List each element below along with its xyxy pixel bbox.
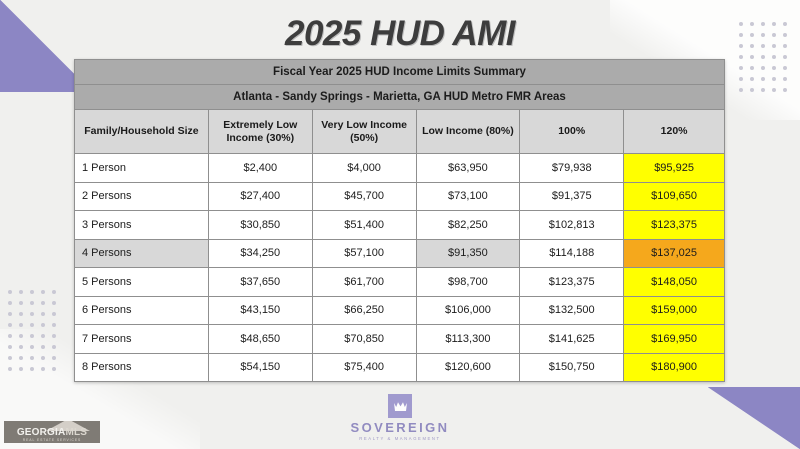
cell-household-size: 3 Persons <box>75 211 209 240</box>
decor-dot <box>783 55 787 59</box>
cell-extremely-low-income: $2,400 <box>208 154 312 183</box>
decor-dot <box>30 334 34 338</box>
cell-extremely-low-income: $48,650 <box>208 325 312 354</box>
table-row: 6 Persons $43,150 $66,250 $106,000 $132,… <box>75 296 725 325</box>
column-header-very-low-income: Very Low Income (50%) <box>312 110 416 154</box>
cell-very-low-income: $51,400 <box>312 211 416 240</box>
cell-extremely-low-income: $54,150 <box>208 353 312 382</box>
decor-dot <box>52 301 56 305</box>
cell-very-low-income: $57,100 <box>312 239 416 268</box>
decor-dot <box>750 88 754 92</box>
decor-dot <box>30 323 34 327</box>
decor-dot <box>761 88 765 92</box>
decor-dot <box>52 345 56 349</box>
watermark-name-a: GEORGIA <box>17 427 66 438</box>
cell-low-income: $106,000 <box>416 296 520 325</box>
decor-dot <box>783 66 787 70</box>
table-row: 4 Persons $34,250 $57,100 $91,350 $114,1… <box>75 239 725 268</box>
decor-dot <box>783 88 787 92</box>
band-fiscal-year-label: Fiscal Year 2025 HUD Income Limits Summa… <box>75 60 725 85</box>
decor-dot <box>52 356 56 360</box>
table-row: 1 Person $2,400 $4,000 $63,950 $79,938 $… <box>75 154 725 183</box>
decor-dot <box>41 356 45 360</box>
cell-low-income: $82,250 <box>416 211 520 240</box>
cell-ami-120: $180,900 <box>624 353 725 382</box>
decor-dot <box>19 345 23 349</box>
cell-very-low-income: $70,850 <box>312 325 416 354</box>
cell-ami-120: $95,925 <box>624 154 725 183</box>
decor-dot <box>750 66 754 70</box>
cell-ami-120: $159,000 <box>624 296 725 325</box>
cell-household-size: 8 Persons <box>75 353 209 382</box>
table-row: 3 Persons $30,850 $51,400 $82,250 $102,8… <box>75 211 725 240</box>
table-band-metro-area: Atlanta - Sandy Springs - Marietta, GA H… <box>75 85 725 110</box>
decor-dot <box>761 77 765 81</box>
crown-icon <box>388 394 412 418</box>
decor-dot <box>8 323 12 327</box>
decor-dot <box>8 334 12 338</box>
cell-low-income: $120,600 <box>416 353 520 382</box>
decor-dot <box>41 301 45 305</box>
decor-dot <box>19 334 23 338</box>
cell-ami-100: $123,375 <box>520 268 624 297</box>
page-title: 2025 HUD AMI <box>0 14 800 54</box>
cell-ami-100: $132,500 <box>520 296 624 325</box>
decor-dot <box>52 312 56 316</box>
decor-dot <box>750 77 754 81</box>
cell-ami-120: $137,025 <box>624 239 725 268</box>
decor-dot <box>739 88 743 92</box>
decor-dot <box>52 367 56 371</box>
cell-household-size: 5 Persons <box>75 268 209 297</box>
cell-household-size: 2 Persons <box>75 182 209 211</box>
decor-dot <box>783 77 787 81</box>
decor-dot <box>30 312 34 316</box>
cell-ami-120: $109,650 <box>624 182 725 211</box>
cell-ami-120: $148,050 <box>624 268 725 297</box>
cell-household-size: 1 Person <box>75 154 209 183</box>
decor-dot <box>19 367 23 371</box>
cell-low-income: $113,300 <box>416 325 520 354</box>
decor-dot-grid-bottom-left <box>8 290 56 371</box>
decor-dot <box>8 290 12 294</box>
cell-very-low-income: $61,700 <box>312 268 416 297</box>
cell-household-size: 7 Persons <box>75 325 209 354</box>
decor-dot <box>772 77 776 81</box>
cell-low-income: $63,950 <box>416 154 520 183</box>
cell-low-income: $73,100 <box>416 182 520 211</box>
column-header-ami-120: 120% <box>624 110 725 154</box>
decor-dot <box>8 345 12 349</box>
decor-dot <box>30 345 34 349</box>
cell-very-low-income: $4,000 <box>312 154 416 183</box>
georgia-mls-watermark: GEORGIAMLS REAL ESTATE SERVICES <box>4 421 100 443</box>
table-body: 1 Person $2,400 $4,000 $63,950 $79,938 $… <box>75 154 725 382</box>
cell-household-size: 4 Persons <box>75 239 209 268</box>
cell-low-income: $98,700 <box>416 268 520 297</box>
cell-extremely-low-income: $43,150 <box>208 296 312 325</box>
sovereign-logo: SOVEREIGN REALTY & MANAGEMENT <box>0 394 800 441</box>
column-header-ami-100: 100% <box>520 110 624 154</box>
cell-ami-100: $102,813 <box>520 211 624 240</box>
decor-dot <box>750 55 754 59</box>
decor-dot <box>19 290 23 294</box>
table-band-fiscal-year: Fiscal Year 2025 HUD Income Limits Summa… <box>75 60 725 85</box>
decor-dot <box>52 290 56 294</box>
watermark-tagline: REAL ESTATE SERVICES <box>4 438 100 442</box>
cell-extremely-low-income: $37,650 <box>208 268 312 297</box>
decor-dot <box>761 55 765 59</box>
cell-very-low-income: $45,700 <box>312 182 416 211</box>
decor-dot <box>772 88 776 92</box>
cell-very-low-income: $75,400 <box>312 353 416 382</box>
decor-dot <box>41 312 45 316</box>
cell-ami-120: $123,375 <box>624 211 725 240</box>
decor-dot <box>8 312 12 316</box>
decor-dot <box>739 77 743 81</box>
decor-dot <box>761 66 765 70</box>
decor-dot <box>30 356 34 360</box>
cell-extremely-low-income: $30,850 <box>208 211 312 240</box>
cell-extremely-low-income: $27,400 <box>208 182 312 211</box>
income-limits-table: Fiscal Year 2025 HUD Income Limits Summa… <box>74 59 725 382</box>
cell-ami-100: $141,625 <box>520 325 624 354</box>
column-header-extremely-low-income: Extremely Low Income (30%) <box>208 110 312 154</box>
cell-ami-100: $91,375 <box>520 182 624 211</box>
logo-name: SOVEREIGN <box>351 420 450 435</box>
cell-ami-100: $79,938 <box>520 154 624 183</box>
decor-dot <box>30 301 34 305</box>
decor-dot <box>772 55 776 59</box>
decor-dot <box>8 356 12 360</box>
decor-dot <box>41 290 45 294</box>
decor-dot <box>52 323 56 327</box>
decor-dot <box>739 55 743 59</box>
decor-dot <box>30 367 34 371</box>
decor-dot <box>30 290 34 294</box>
table-row: 7 Persons $48,650 $70,850 $113,300 $141,… <box>75 325 725 354</box>
cell-ami-100: $114,188 <box>520 239 624 268</box>
decor-dot <box>41 334 45 338</box>
decor-dot <box>739 66 743 70</box>
column-header-low-income: Low Income (80%) <box>416 110 520 154</box>
decor-dot <box>41 367 45 371</box>
cell-extremely-low-income: $34,250 <box>208 239 312 268</box>
cell-very-low-income: $66,250 <box>312 296 416 325</box>
decor-dot <box>41 345 45 349</box>
decor-dot <box>52 334 56 338</box>
cell-household-size: 6 Persons <box>75 296 209 325</box>
table-row: 2 Persons $27,400 $45,700 $73,100 $91,37… <box>75 182 725 211</box>
band-metro-area-label: Atlanta - Sandy Springs - Marietta, GA H… <box>75 85 725 110</box>
decor-dot <box>8 301 12 305</box>
decor-dot <box>19 356 23 360</box>
decor-dot <box>41 323 45 327</box>
cell-ami-100: $150,750 <box>520 353 624 382</box>
cell-low-income: $91,350 <box>416 239 520 268</box>
table-column-headers: Family/Household Size Extremely Low Inco… <box>75 110 725 154</box>
table-row: 8 Persons $54,150 $75,400 $120,600 $150,… <box>75 353 725 382</box>
logo-tagline: REALTY & MANAGEMENT <box>359 436 440 441</box>
decor-dot <box>19 312 23 316</box>
table-row: 5 Persons $37,650 $61,700 $98,700 $123,3… <box>75 268 725 297</box>
decor-dot <box>19 301 23 305</box>
decor-dot <box>19 323 23 327</box>
cell-ami-120: $169,950 <box>624 325 725 354</box>
decor-dot <box>772 66 776 70</box>
decor-dot <box>8 367 12 371</box>
column-header-household-size: Family/Household Size <box>75 110 209 154</box>
watermark-name-b: MLS <box>65 427 87 438</box>
